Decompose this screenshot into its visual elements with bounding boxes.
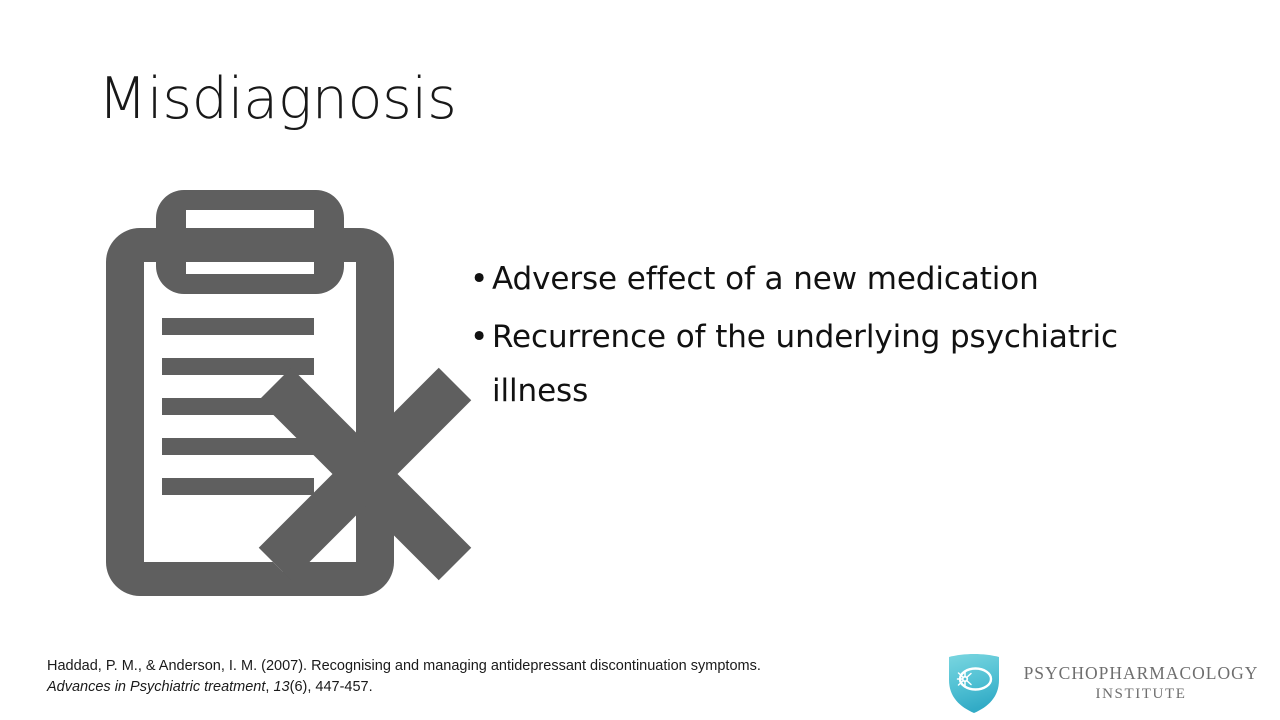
brand-logo: PSYCHOPHARMACOLOGY INSTITUTE <box>946 650 1266 716</box>
citation-issue-pages: (6), 447-457. <box>290 679 373 695</box>
bullet-marker-icon: • <box>470 310 492 364</box>
bullet-text: Adverse effect of a new medication <box>492 252 1130 306</box>
citation-authors-title: Haddad, P. M., & Anderson, I. M. (2007).… <box>47 658 761 674</box>
list-item: • Adverse effect of a new medication <box>470 252 1130 306</box>
brand-wordmark: PSYCHOPHARMACOLOGY INSTITUTE <box>1016 662 1266 704</box>
bullet-list: • Adverse effect of a new medication • R… <box>470 252 1130 422</box>
citation-reference: Haddad, P. M., & Anderson, I. M. (2007).… <box>47 656 777 698</box>
bullet-marker-icon: • <box>470 252 492 306</box>
brand-name-secondary: INSTITUTE <box>1016 684 1266 704</box>
shield-icon <box>946 652 1002 714</box>
brand-name-primary: PSYCHOPHARMACOLOGY <box>1016 662 1266 684</box>
citation-volume: 13 <box>273 679 289 695</box>
clipboard-with-x-icon <box>100 180 480 600</box>
citation-journal: Advances in Psychiatric treatment <box>47 679 265 695</box>
slide-canvas: Misdiagnosis <box>0 0 1280 720</box>
page-title: Misdiagnosis <box>98 70 457 130</box>
list-item: • Recurrence of the underlying psychiatr… <box>470 310 1130 418</box>
bullet-text: Recurrence of the underlying psychiatric… <box>492 310 1130 418</box>
